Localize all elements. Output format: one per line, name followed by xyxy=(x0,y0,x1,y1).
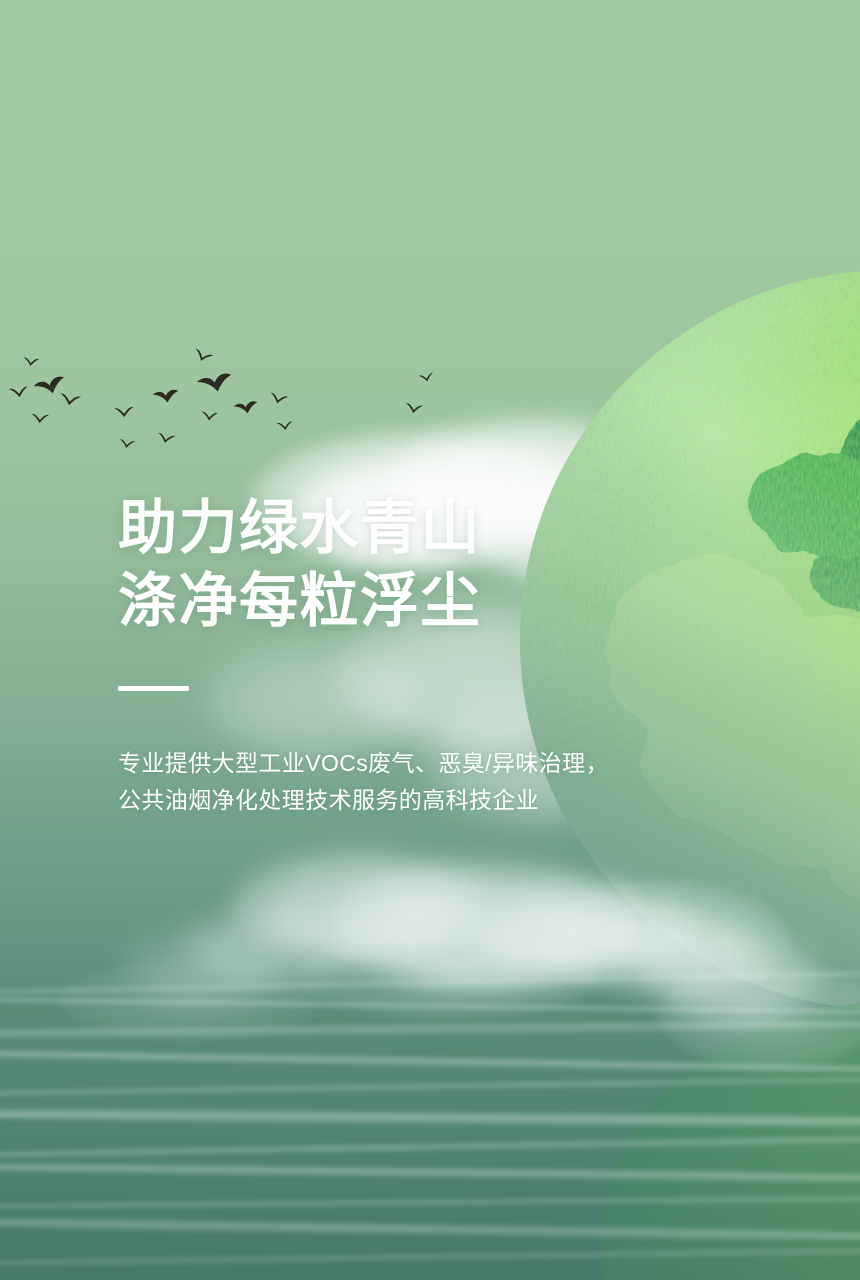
flying-bird-icon-3 xyxy=(30,411,51,425)
subtitle-line-1: 专业提供大型工业VOCs废气、恶臭/异味治理， xyxy=(118,745,818,782)
mist-puff-2 xyxy=(300,930,600,1020)
headline-divider xyxy=(118,686,189,691)
water-wave-1 xyxy=(0,967,860,999)
water-wave-9 xyxy=(0,1193,860,1211)
flying-bird-icon-6 xyxy=(113,404,136,419)
flying-bird-icon-17 xyxy=(417,370,436,384)
water-ripple-icon xyxy=(0,960,860,1280)
mist-puff-3 xyxy=(660,960,860,1070)
water-wave-3 xyxy=(0,1017,860,1042)
cloud-icon-14 xyxy=(120,930,290,1000)
water-wave-5 xyxy=(0,1074,860,1099)
water-wave-6 xyxy=(0,1105,860,1130)
headline-line-1: 助力绿水青山 xyxy=(118,492,818,565)
water-wave-11 xyxy=(0,1245,860,1269)
headline-line-2: 涤净每粒浮尘 xyxy=(118,565,818,638)
flying-bird-icon-2 xyxy=(21,355,40,368)
flying-bird-icon-7 xyxy=(117,437,136,451)
flying-bird-icon-13 xyxy=(232,398,260,418)
flying-bird-icon-4 xyxy=(31,372,69,401)
cloud-icon-8 xyxy=(230,850,490,960)
flying-bird-icon-5 xyxy=(57,390,83,409)
water-wave-8 xyxy=(0,1160,860,1186)
globe-reflection xyxy=(600,1000,860,1280)
flying-bird-icon-12 xyxy=(200,409,220,422)
hero-copy: 助力绿水青山 涤净每粒浮尘 专业提供大型工业VOCs废气、恶臭/异味治理， 公共… xyxy=(118,492,818,819)
flying-bird-icon-8 xyxy=(151,387,181,407)
subtitle-line-2: 公共油烟净化处理技术服务的高科技企业 xyxy=(118,782,818,819)
mist-puff-4 xyxy=(60,960,320,1040)
cloud-icon-12 xyxy=(180,905,380,985)
water-shading xyxy=(0,960,860,1280)
mist-puff-1 xyxy=(540,880,790,1000)
flying-bird-icon-14 xyxy=(267,390,291,408)
eco-promo-poster: 助力绿水青山 涤净每粒浮尘 专业提供大型工业VOCs废气、恶臭/异味治理， 公共… xyxy=(0,0,860,1280)
cloud-icon-11 xyxy=(580,900,770,980)
flying-bird-icon-16 xyxy=(403,401,425,416)
flying-bird-icon-9 xyxy=(155,430,177,446)
cloud-icon-13 xyxy=(640,930,820,1020)
flying-bird-icon-15 xyxy=(275,419,294,432)
water-wave-4 xyxy=(0,1047,860,1076)
cloud-icon-10 xyxy=(470,880,700,980)
water-wave-2 xyxy=(0,995,860,1017)
flying-bird-icon-11 xyxy=(194,369,236,399)
water-wave-10 xyxy=(0,1214,860,1245)
flying-bird-icon-1 xyxy=(7,384,31,401)
water-wave-7 xyxy=(0,1133,860,1161)
flying-bird-icon-10 xyxy=(190,345,216,366)
cloud-icon-9 xyxy=(330,860,640,990)
